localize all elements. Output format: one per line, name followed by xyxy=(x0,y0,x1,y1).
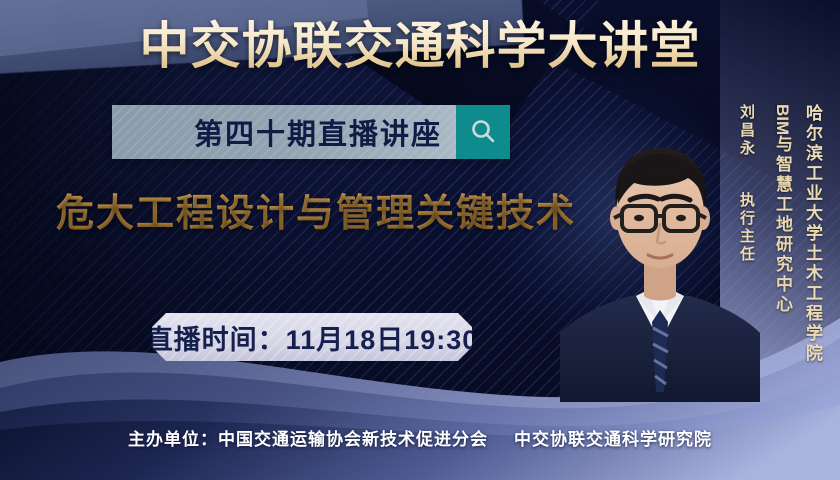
speaker-school: 哈尔滨工业大学土木工程学院 xyxy=(800,104,825,364)
promo-poster: 中交协联交通科学大讲堂 第四十期直播讲座 危大工程设计与管理关键技术 直播时间：… xyxy=(0,0,840,480)
speaker-name: 刘昌永 xyxy=(736,104,757,158)
lecture-headline: 危大工程设计与管理关键技术 xyxy=(56,190,576,238)
organizer-label: 主办单位：中国交通运输协会新技术促进分会 xyxy=(128,430,488,449)
speaker-center: BIM与智慧工地研究中心 xyxy=(770,104,797,315)
footer-organizers: 主办单位：中国交通运输协会新技术促进分会中交协联交通科学研究院 xyxy=(0,425,840,450)
page-title: 中交协联交通科学大讲堂 xyxy=(0,16,840,76)
search-icon xyxy=(468,117,498,147)
live-time-label: 直播时间：11月18日19:30 xyxy=(146,318,479,357)
speaker-portrait xyxy=(560,92,760,402)
speaker-center-latin: BIM xyxy=(773,104,792,135)
search-button[interactable] xyxy=(456,105,510,159)
co-organizer-label: 中交协联交通科学研究院 xyxy=(514,430,712,449)
subtitle-text-area: 第四十期直播讲座 xyxy=(112,105,456,159)
subtitle-label: 第四十期直播讲座 xyxy=(194,111,442,153)
live-time-badge: 直播时间：11月18日19:30 xyxy=(152,313,472,361)
speaker-role: 执行主任 xyxy=(736,192,757,264)
speaker-center-rest: 与智慧工地研究中心 xyxy=(773,135,792,315)
subtitle-bar: 第四十期直播讲座 xyxy=(112,105,510,159)
